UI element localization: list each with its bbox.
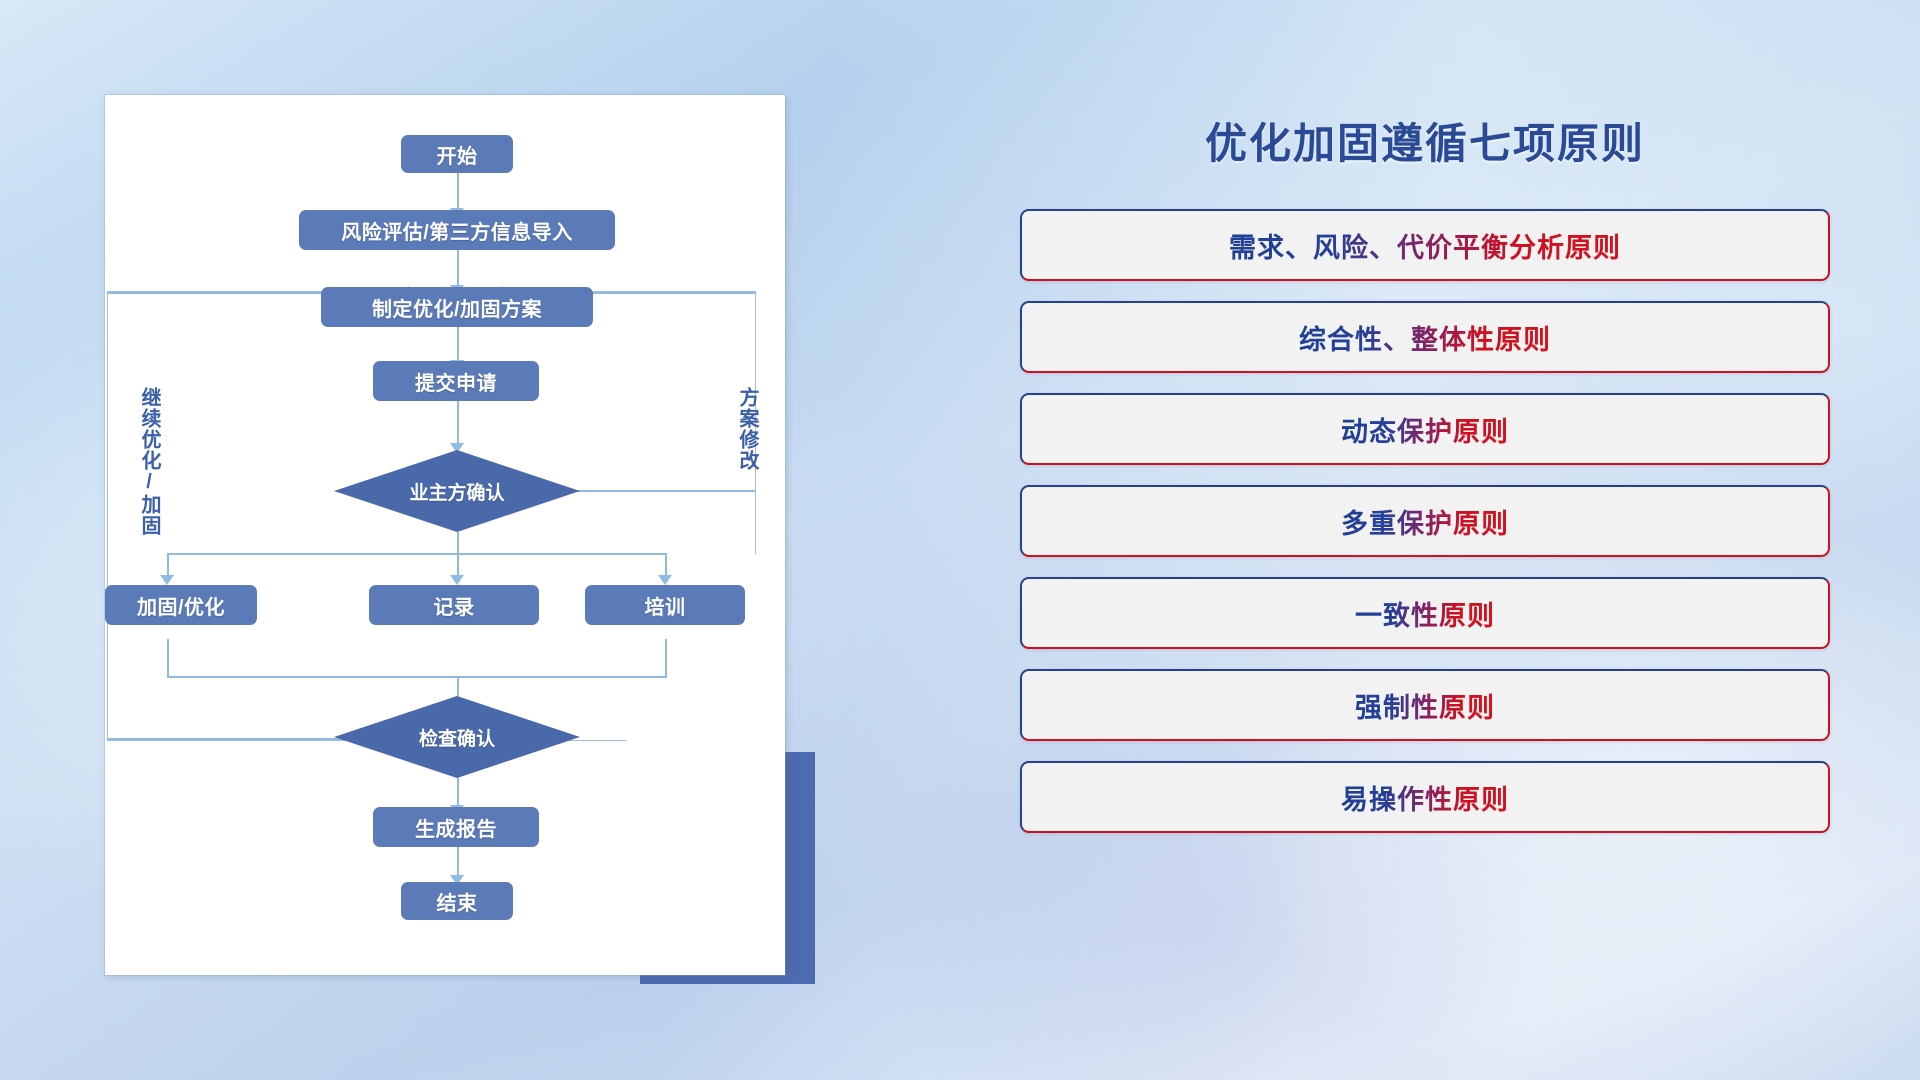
merge-bar: [167, 676, 667, 678]
principle-label-6: 强制性原则: [1355, 686, 1495, 725]
principle-card-2[interactable]: 综合性、整体性原则: [1020, 301, 1830, 373]
principle-label-4: 多重保护原则: [1341, 502, 1509, 541]
principle-label-5: 一致性原则: [1355, 594, 1495, 633]
flow-node-record[interactable]: 记录: [369, 585, 539, 625]
connector-owner-branch: [457, 532, 459, 554]
merge-right-up: [665, 639, 667, 677]
flow-node-start[interactable]: 开始: [401, 135, 513, 173]
flow-node-plan[interactable]: 制定优化/加固方案: [321, 287, 593, 327]
flow-node-submit[interactable]: 提交申请: [373, 361, 539, 401]
principle-card-4[interactable]: 多重保护原则: [1020, 485, 1830, 557]
principle-label-7: 易操作性原则: [1341, 778, 1509, 817]
principle-card-5[interactable]: 一致性原则: [1020, 577, 1830, 649]
flow-node-training[interactable]: 培训: [585, 585, 745, 625]
connector-check-leftloop: [107, 738, 355, 740]
principle-label-3: 动态保护原则: [1341, 410, 1509, 449]
principle-card-7[interactable]: 易操作性原则: [1020, 761, 1830, 833]
connector-owner-rightloop: [560, 490, 756, 492]
principle-card-3[interactable]: 动态保护原则: [1020, 393, 1830, 465]
principle-card-6[interactable]: 强制性原则: [1020, 669, 1830, 741]
principles-title: 优化加固遵循七项原则: [1020, 110, 1830, 171]
merge-left-up: [167, 639, 169, 677]
principles-card-list: 需求、风险、代价平衡分析原则 综合性、整体性原则 动态保护原则 多重保护原则 一…: [1020, 209, 1830, 833]
principle-label-1: 需求、风险、代价平衡分析原则: [1229, 226, 1621, 265]
flowchart-panel: 继续优化/加固 方案修改: [105, 95, 785, 975]
arrow-down-train: [658, 575, 672, 585]
principle-label-2: 综合性、整体性原则: [1299, 318, 1551, 357]
flow-node-risk-assessment[interactable]: 风险评估/第三方信息导入: [299, 210, 615, 250]
arrow-down-reinforce: [160, 575, 174, 585]
branch-bar-top: [167, 553, 667, 555]
principle-card-1[interactable]: 需求、风险、代价平衡分析原则: [1020, 209, 1830, 281]
flow-node-reinforce[interactable]: 加固/优化: [105, 585, 257, 625]
principles-panel: 优化加固遵循七项原则 需求、风险、代价平衡分析原则 综合性、整体性原则 动态保护…: [1020, 95, 1830, 995]
flowchart-canvas: 继续优化/加固 方案修改: [105, 95, 785, 975]
flow-node-report[interactable]: 生成报告: [373, 807, 539, 847]
left-loop-label: 继续优化/加固: [135, 387, 164, 536]
arrow-down-record: [450, 575, 464, 585]
right-loop-label: 方案修改: [733, 387, 762, 471]
flow-node-end[interactable]: 结束: [401, 882, 513, 920]
